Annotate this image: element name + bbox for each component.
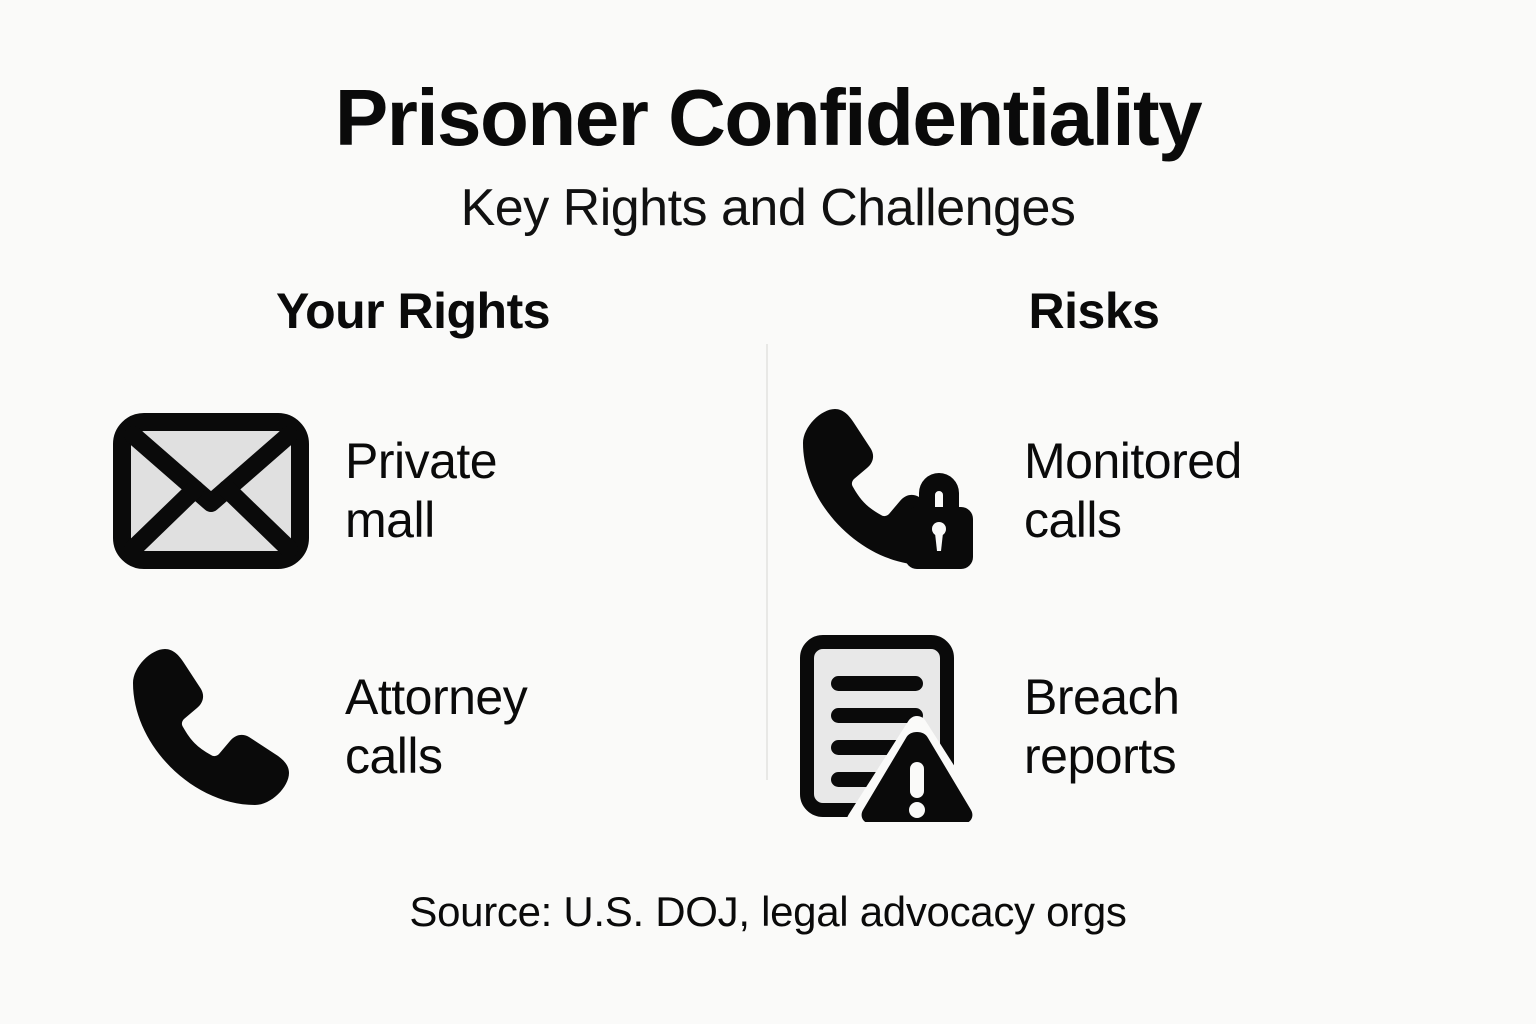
phone-icon bbox=[111, 632, 311, 822]
envelope-icon bbox=[111, 396, 311, 586]
column-items-your-rights: Private mall Attorney calls bbox=[85, 396, 781, 822]
header: Prisoner Confidentiality Key Rights and … bbox=[0, 78, 1536, 234]
column-your-rights: Your Rights Private mall bbox=[98, 286, 768, 822]
phone-lock-icon bbox=[790, 396, 990, 586]
source-note: Source: U.S. DOJ, legal advocacy orgs bbox=[0, 888, 1536, 936]
list-item-label: Breach reports bbox=[1024, 668, 1179, 786]
list-item-label: Monitored calls bbox=[1024, 432, 1242, 550]
infographic-poster: Prisoner Confidentiality Key Rights and … bbox=[0, 0, 1536, 1024]
list-item-monitored-calls: Monitored calls bbox=[790, 396, 1460, 586]
page-title: Prisoner Confidentiality bbox=[0, 78, 1536, 158]
column-items-risks: Monitored calls bbox=[746, 396, 1460, 822]
column-divider bbox=[766, 344, 768, 780]
columns-container: Your Rights Private mall bbox=[98, 286, 1438, 822]
page-subtitle: Key Rights and Challenges bbox=[0, 182, 1536, 234]
column-heading-risks: Risks bbox=[1029, 286, 1160, 336]
column-heading-your-rights: Your Rights bbox=[276, 286, 550, 336]
column-risks: Risks bbox=[768, 286, 1438, 822]
list-item-private-mail: Private mall bbox=[111, 396, 781, 586]
document-warning-icon bbox=[790, 632, 990, 822]
list-item-attorney-calls: Attorney calls bbox=[111, 632, 781, 822]
list-item-label: Private mall bbox=[345, 432, 497, 550]
list-item-label: Attorney calls bbox=[345, 668, 527, 786]
list-item-breach-reports: Breach reports bbox=[790, 632, 1460, 822]
